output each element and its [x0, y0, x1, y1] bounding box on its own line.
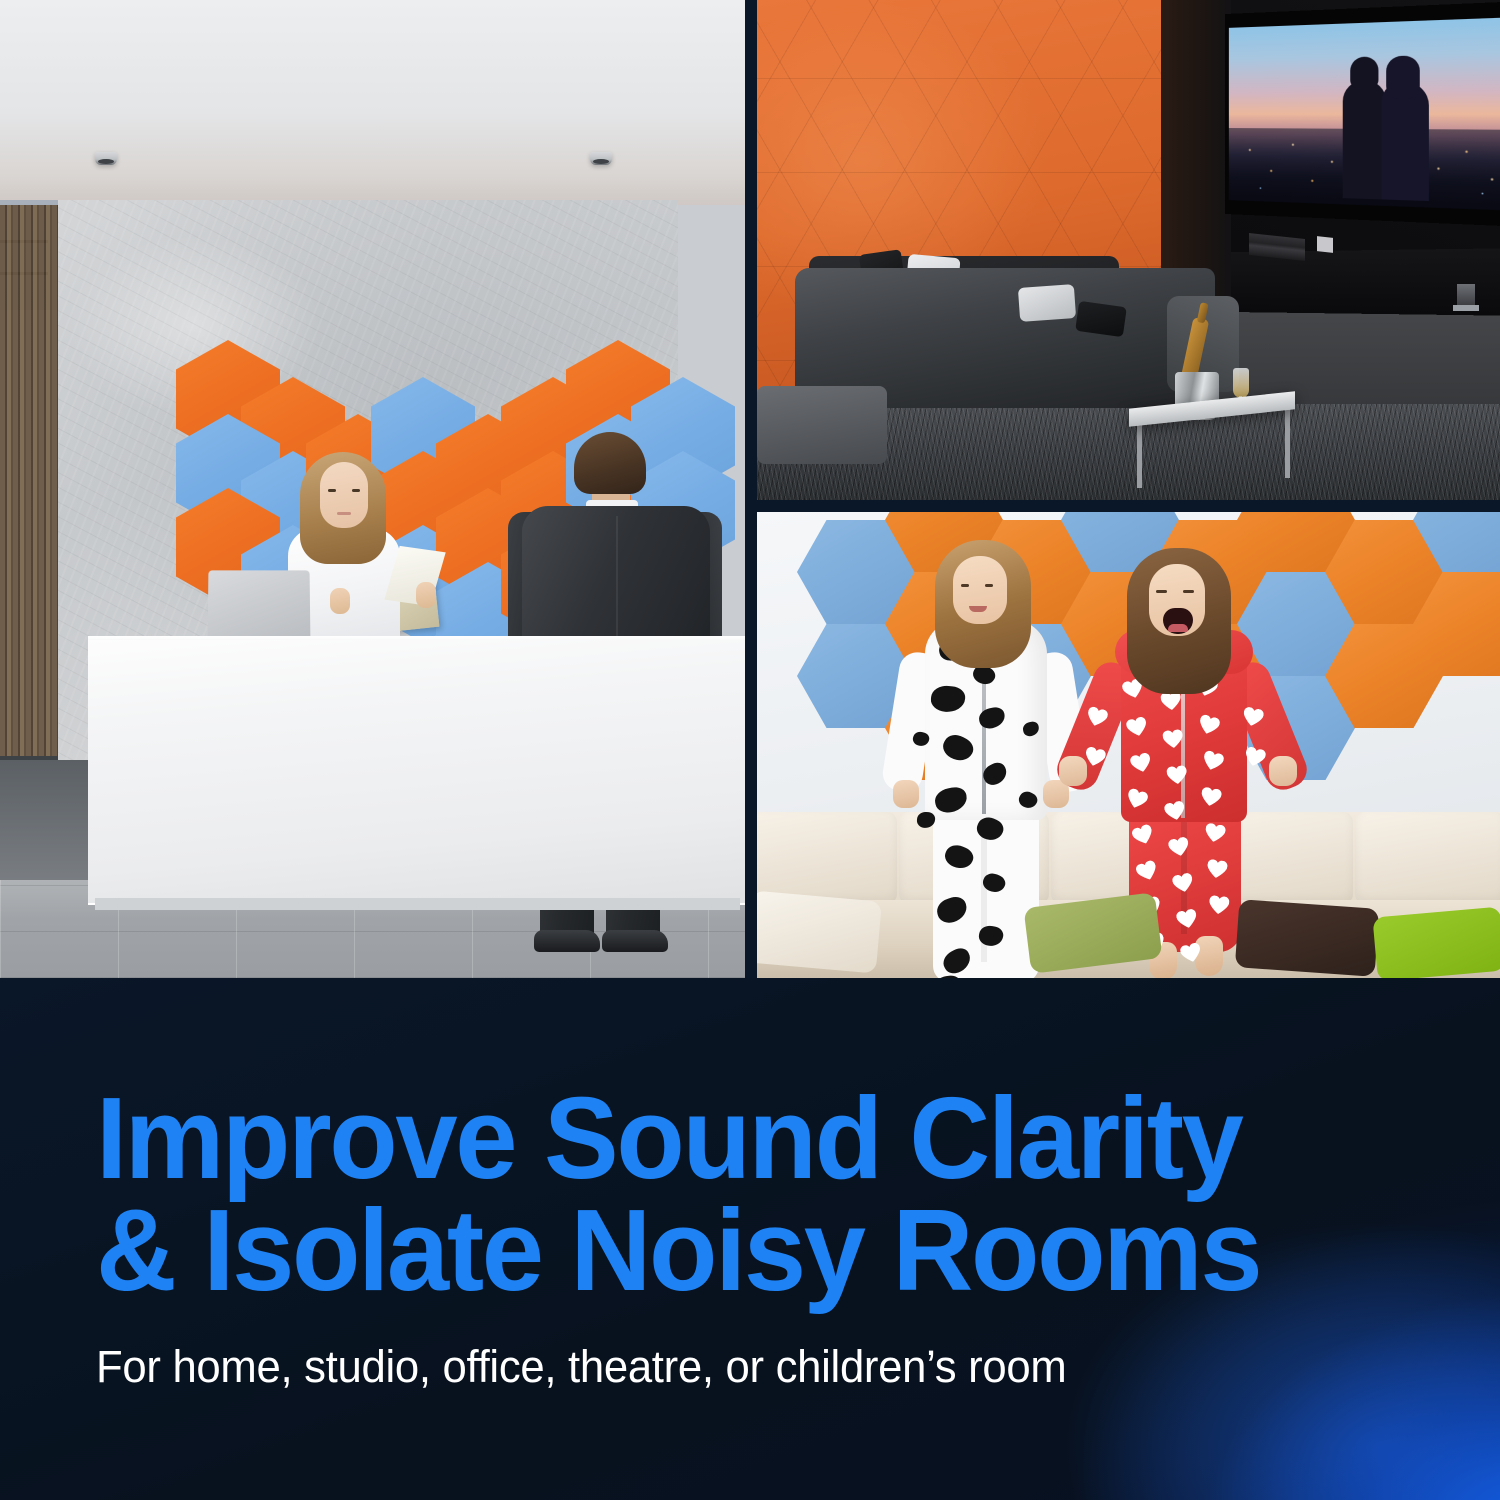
- projector-screen: [1229, 17, 1500, 211]
- sofa-pillow-white: [757, 890, 882, 973]
- receptionist-hand: [330, 588, 350, 614]
- girl-hearts-foot: [1195, 936, 1223, 976]
- cushion-light: [1018, 284, 1076, 322]
- girl-hearts-eye: [1183, 590, 1194, 593]
- girl-cow-legs: [933, 812, 1039, 978]
- businessman-shoe: [534, 930, 600, 952]
- photo-collage: [0, 0, 1500, 978]
- product-marketing-image: Improve Sound Clarity & Isolate Noisy Ro…: [0, 0, 1500, 1500]
- projector-screen-frame: [1225, 1, 1500, 227]
- reception-desk-base: [95, 898, 740, 910]
- reception-desk: [88, 640, 745, 905]
- ottoman: [757, 386, 887, 464]
- photo-office-reception: [0, 0, 745, 978]
- girl-hearts-hand: [1269, 756, 1297, 786]
- receptionist-eye: [352, 489, 360, 492]
- remote-control: [1317, 236, 1333, 253]
- speaker: [1457, 284, 1475, 306]
- girl-cow-eye: [985, 584, 993, 587]
- businessman-hair: [574, 432, 646, 494]
- sofa-back-cushion: [1355, 812, 1500, 904]
- girl-cow-face: [953, 556, 1007, 624]
- silhouette-woman: [1382, 81, 1429, 201]
- table-leg: [1285, 400, 1290, 478]
- girl-hearts-mouth: [1163, 608, 1193, 634]
- wine-glass: [1233, 368, 1249, 398]
- receptionist-hand: [416, 582, 436, 608]
- girl-hearts-eye: [1156, 590, 1167, 593]
- photo-home-theatre: [757, 0, 1500, 500]
- girl-cow-hand: [893, 780, 919, 808]
- sofa-pillow-brown: [1235, 899, 1379, 977]
- girl-cow-eye: [961, 584, 969, 587]
- silhouette-man: [1343, 80, 1386, 200]
- girl-hearts-hand: [1059, 756, 1087, 786]
- laptop: [208, 570, 311, 642]
- sofa-back-cushion: [757, 812, 897, 904]
- page-title: Improve Sound Clarity & Isolate Noisy Ro…: [96, 1082, 1283, 1306]
- receptionist-eye: [328, 489, 336, 492]
- businessman-shoe: [602, 930, 668, 952]
- cushion-dark: [1075, 301, 1127, 337]
- receptionist-face: [320, 462, 368, 528]
- sofa-pillow-green: [1372, 907, 1500, 978]
- subheading: For home, studio, office, theatre, or ch…: [96, 1341, 1066, 1393]
- hero-text-section: Improve Sound Clarity & Isolate Noisy Ro…: [0, 978, 1500, 1500]
- receptionist-mouth: [337, 512, 351, 515]
- photo-childrens-room: [757, 512, 1500, 978]
